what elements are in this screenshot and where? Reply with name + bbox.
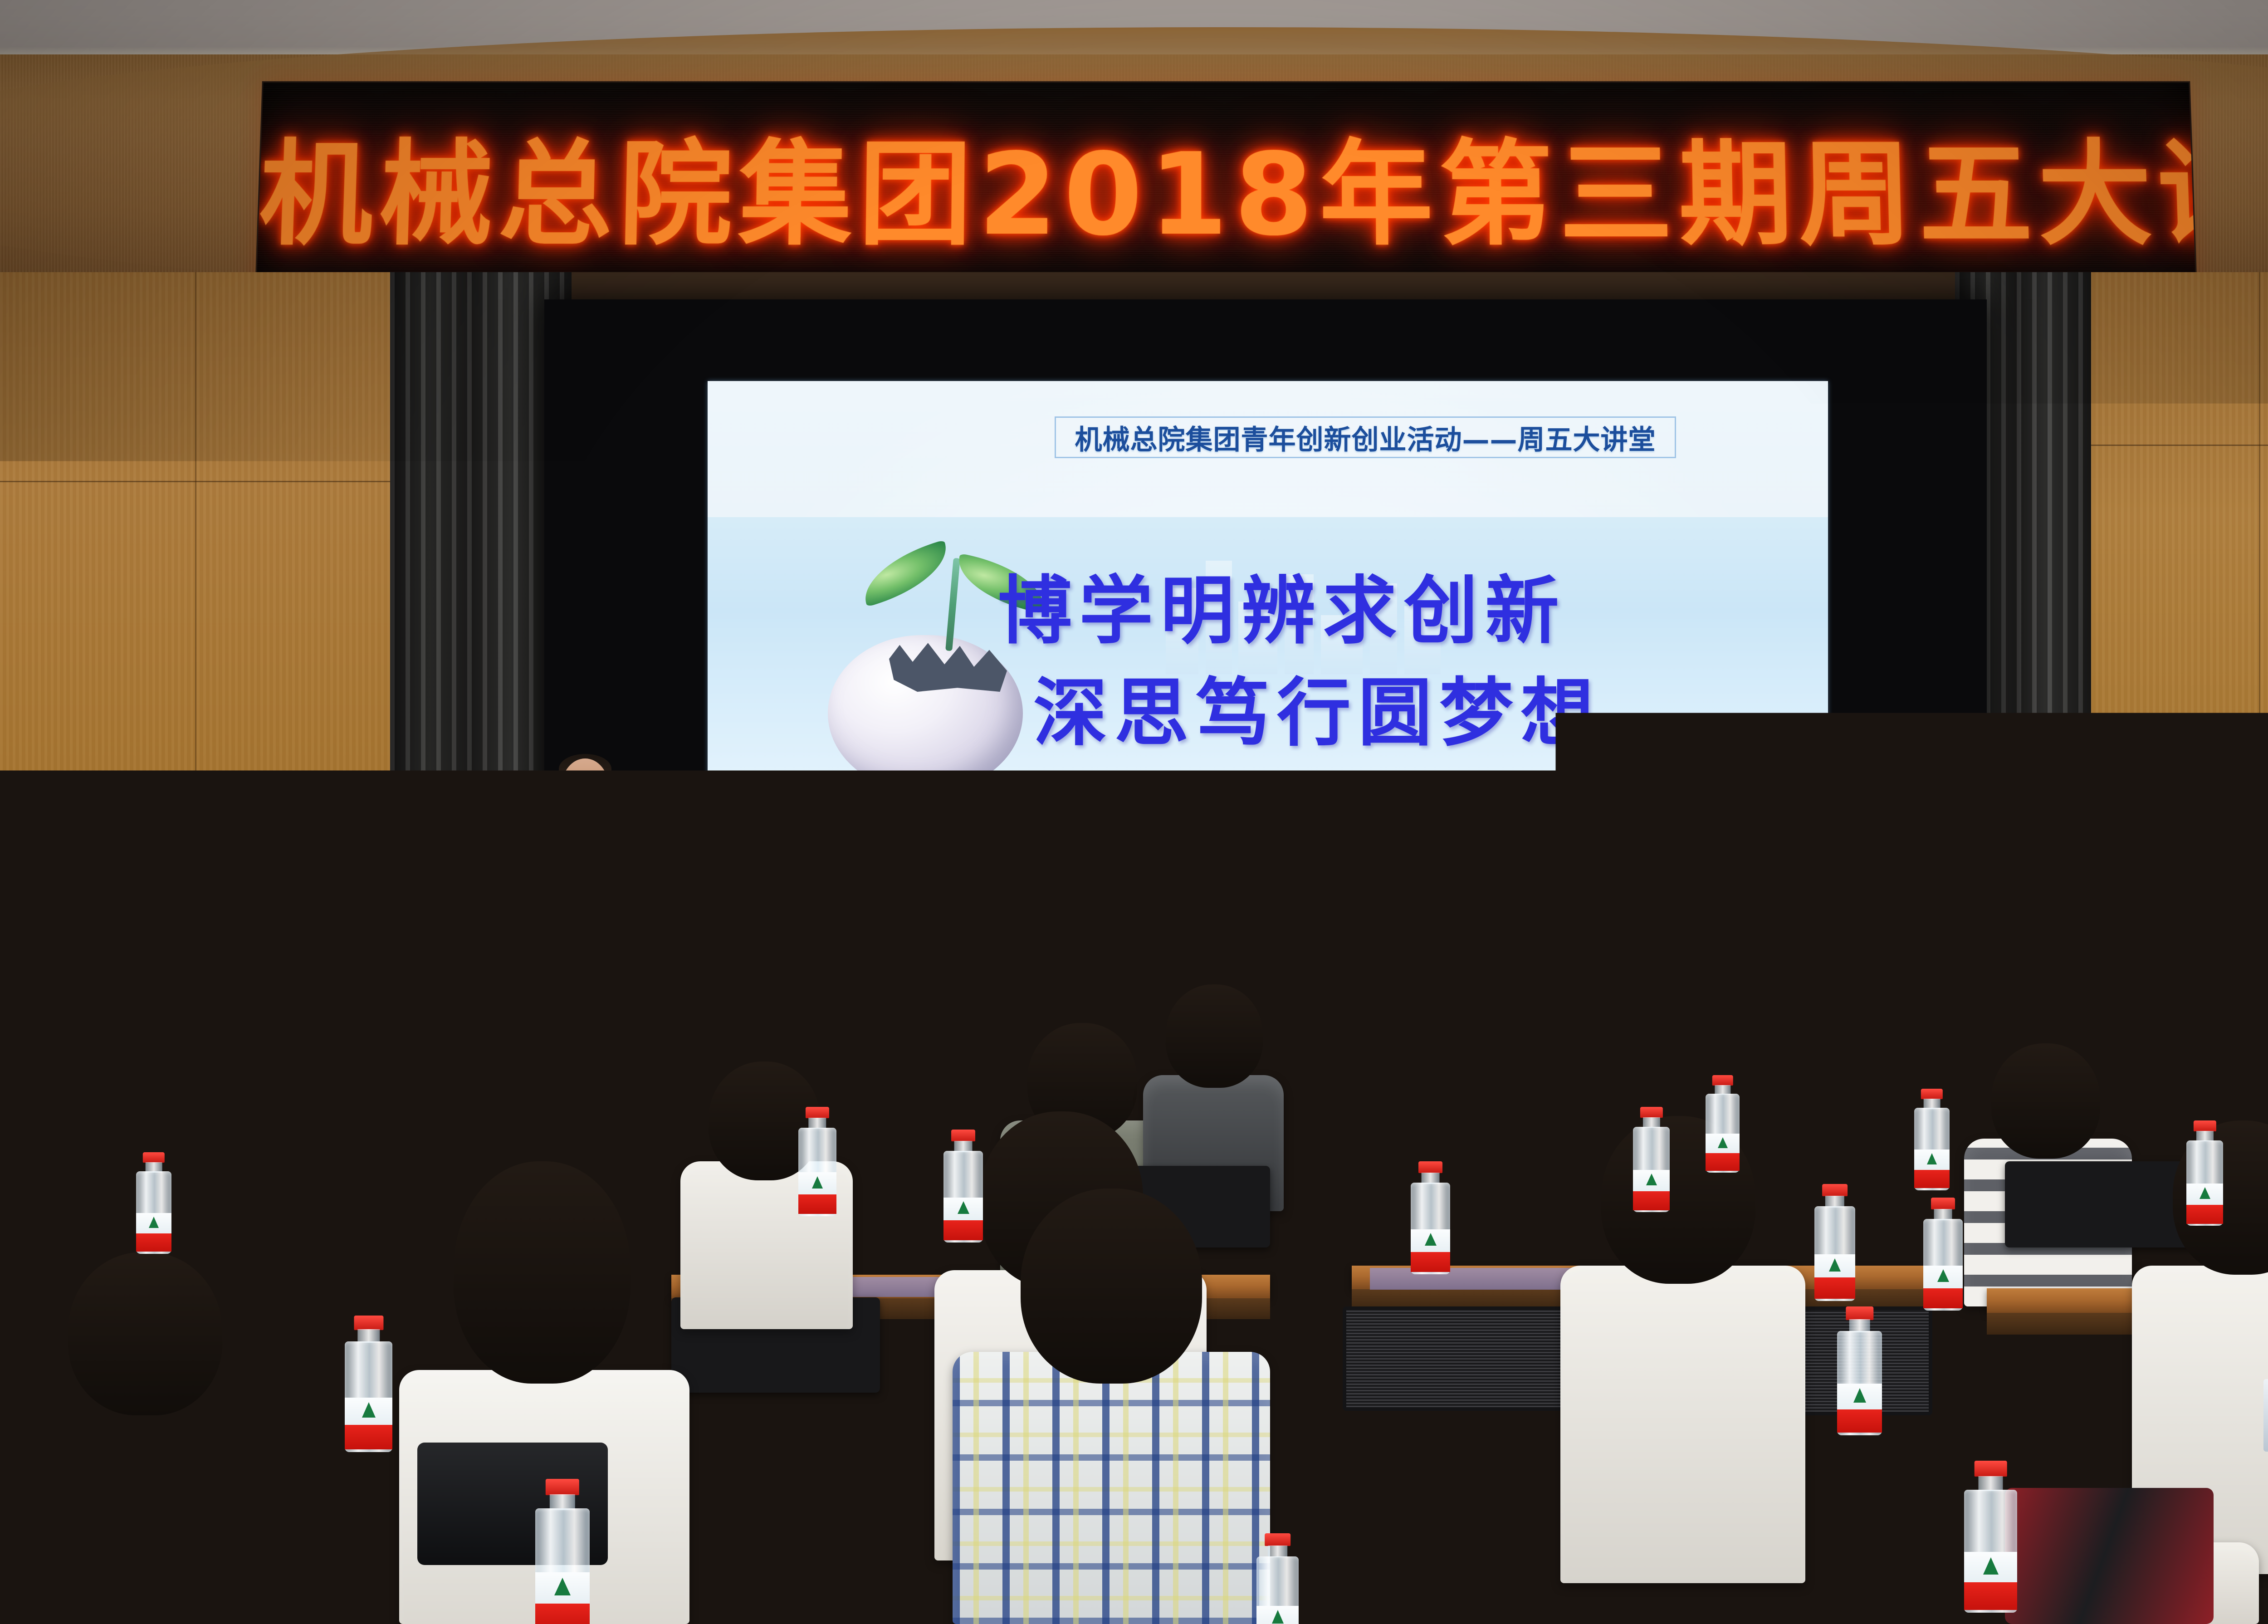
water-bottle[interactable] xyxy=(535,1479,590,1624)
tissue-box[interactable] xyxy=(2263,1379,2268,1452)
paper-sheet-2[interactable] xyxy=(1396,1427,1534,1475)
person-head-3 xyxy=(397,1039,500,1148)
water-bottle[interactable] xyxy=(345,1316,392,1452)
water-bottle[interactable] xyxy=(1256,1533,1299,1624)
water-bottle[interactable] xyxy=(1923,1198,1963,1311)
water-bottle[interactable] xyxy=(1329,1438,1385,1598)
water-bottle[interactable] xyxy=(1411,1161,1450,1274)
speaker-glasses-icon xyxy=(566,778,604,789)
person-ponytail-18 xyxy=(861,1080,895,1229)
water-bottle[interactable] xyxy=(1560,1198,1600,1311)
person-torso-10-plaid xyxy=(953,1352,1270,1624)
person-head-1 xyxy=(68,1252,222,1415)
auditorium-scene: 机械总院集团2018年第三期周五大讲堂 机械总院集团青年创新创业活动——周五大讲… xyxy=(0,0,2268,1624)
water-bottle[interactable] xyxy=(1633,1107,1670,1212)
water-bottle[interactable] xyxy=(798,1107,836,1216)
person-torso-11 xyxy=(1560,1266,1805,1583)
led-banner: 机械总院集团2018年第三期周五大讲堂 xyxy=(255,81,2197,288)
water-bottle[interactable] xyxy=(1706,1075,1740,1173)
water-bottle[interactable] xyxy=(943,1130,983,1242)
water-bottle[interactable] xyxy=(1814,1184,1855,1301)
projection-screen: 机械总院集团青年创新创业活动——周五大讲堂 博学明辨求创新 深思笃行圆梦想 钎焊… xyxy=(708,381,1828,1048)
led-banner-text: 机械总院集团2018年第三期周五大讲堂 xyxy=(257,103,2195,267)
chair-mesh-4[interactable] xyxy=(1343,1306,1569,1411)
person-head-14 xyxy=(1991,1043,2100,1159)
person-head-2 xyxy=(454,1161,631,1384)
chair-9[interactable] xyxy=(2005,1161,2195,1247)
wood-seam-l2 xyxy=(0,780,408,782)
backpack-red[interactable] xyxy=(2005,1488,2214,1624)
water-bottle[interactable] xyxy=(1914,1089,1950,1190)
water-bottle[interactable] xyxy=(1837,1306,1882,1435)
slide-title-line1: 博学明辨求创新 xyxy=(998,561,1760,663)
microphone-left-led xyxy=(525,808,535,818)
person-head-9 xyxy=(1166,984,1263,1088)
water-bottle[interactable] xyxy=(136,1152,171,1254)
water-bottle[interactable] xyxy=(2186,1120,2223,1226)
slide-footer-line1: 钎焊国家重点实验室 龙伟民 xyxy=(708,871,1828,922)
podium-laptop[interactable] xyxy=(507,843,606,886)
paper-sheet-1[interactable] xyxy=(816,1430,944,1479)
camera-base xyxy=(1883,771,1951,804)
person-head-4 xyxy=(585,996,679,1099)
water-bottle[interactable] xyxy=(1964,1461,2017,1613)
slide-footer-block: 钎焊国家重点实验室 龙伟民 北京 机械总院（2018.6.6） xyxy=(708,871,1828,1013)
slide-title-line2: 深思笃行圆梦想 xyxy=(998,663,1760,765)
slide-header-text: 机械总院集团青年创新创业活动——周五大讲堂 xyxy=(1075,418,1656,457)
person-torso-1 xyxy=(27,1397,263,1624)
microphone-right-led xyxy=(630,806,640,816)
slide-title-block: 博学明辨求创新 深思笃行圆梦想 xyxy=(998,561,1760,765)
camera-lens-icon xyxy=(1903,735,1935,767)
person-head-10 xyxy=(1021,1189,1202,1384)
person-head-17 xyxy=(167,1057,240,1136)
slide-header-box: 机械总院集团青年创新创业活动——周五大讲堂 xyxy=(1055,416,1676,458)
wood-seam-l1 xyxy=(0,481,408,482)
